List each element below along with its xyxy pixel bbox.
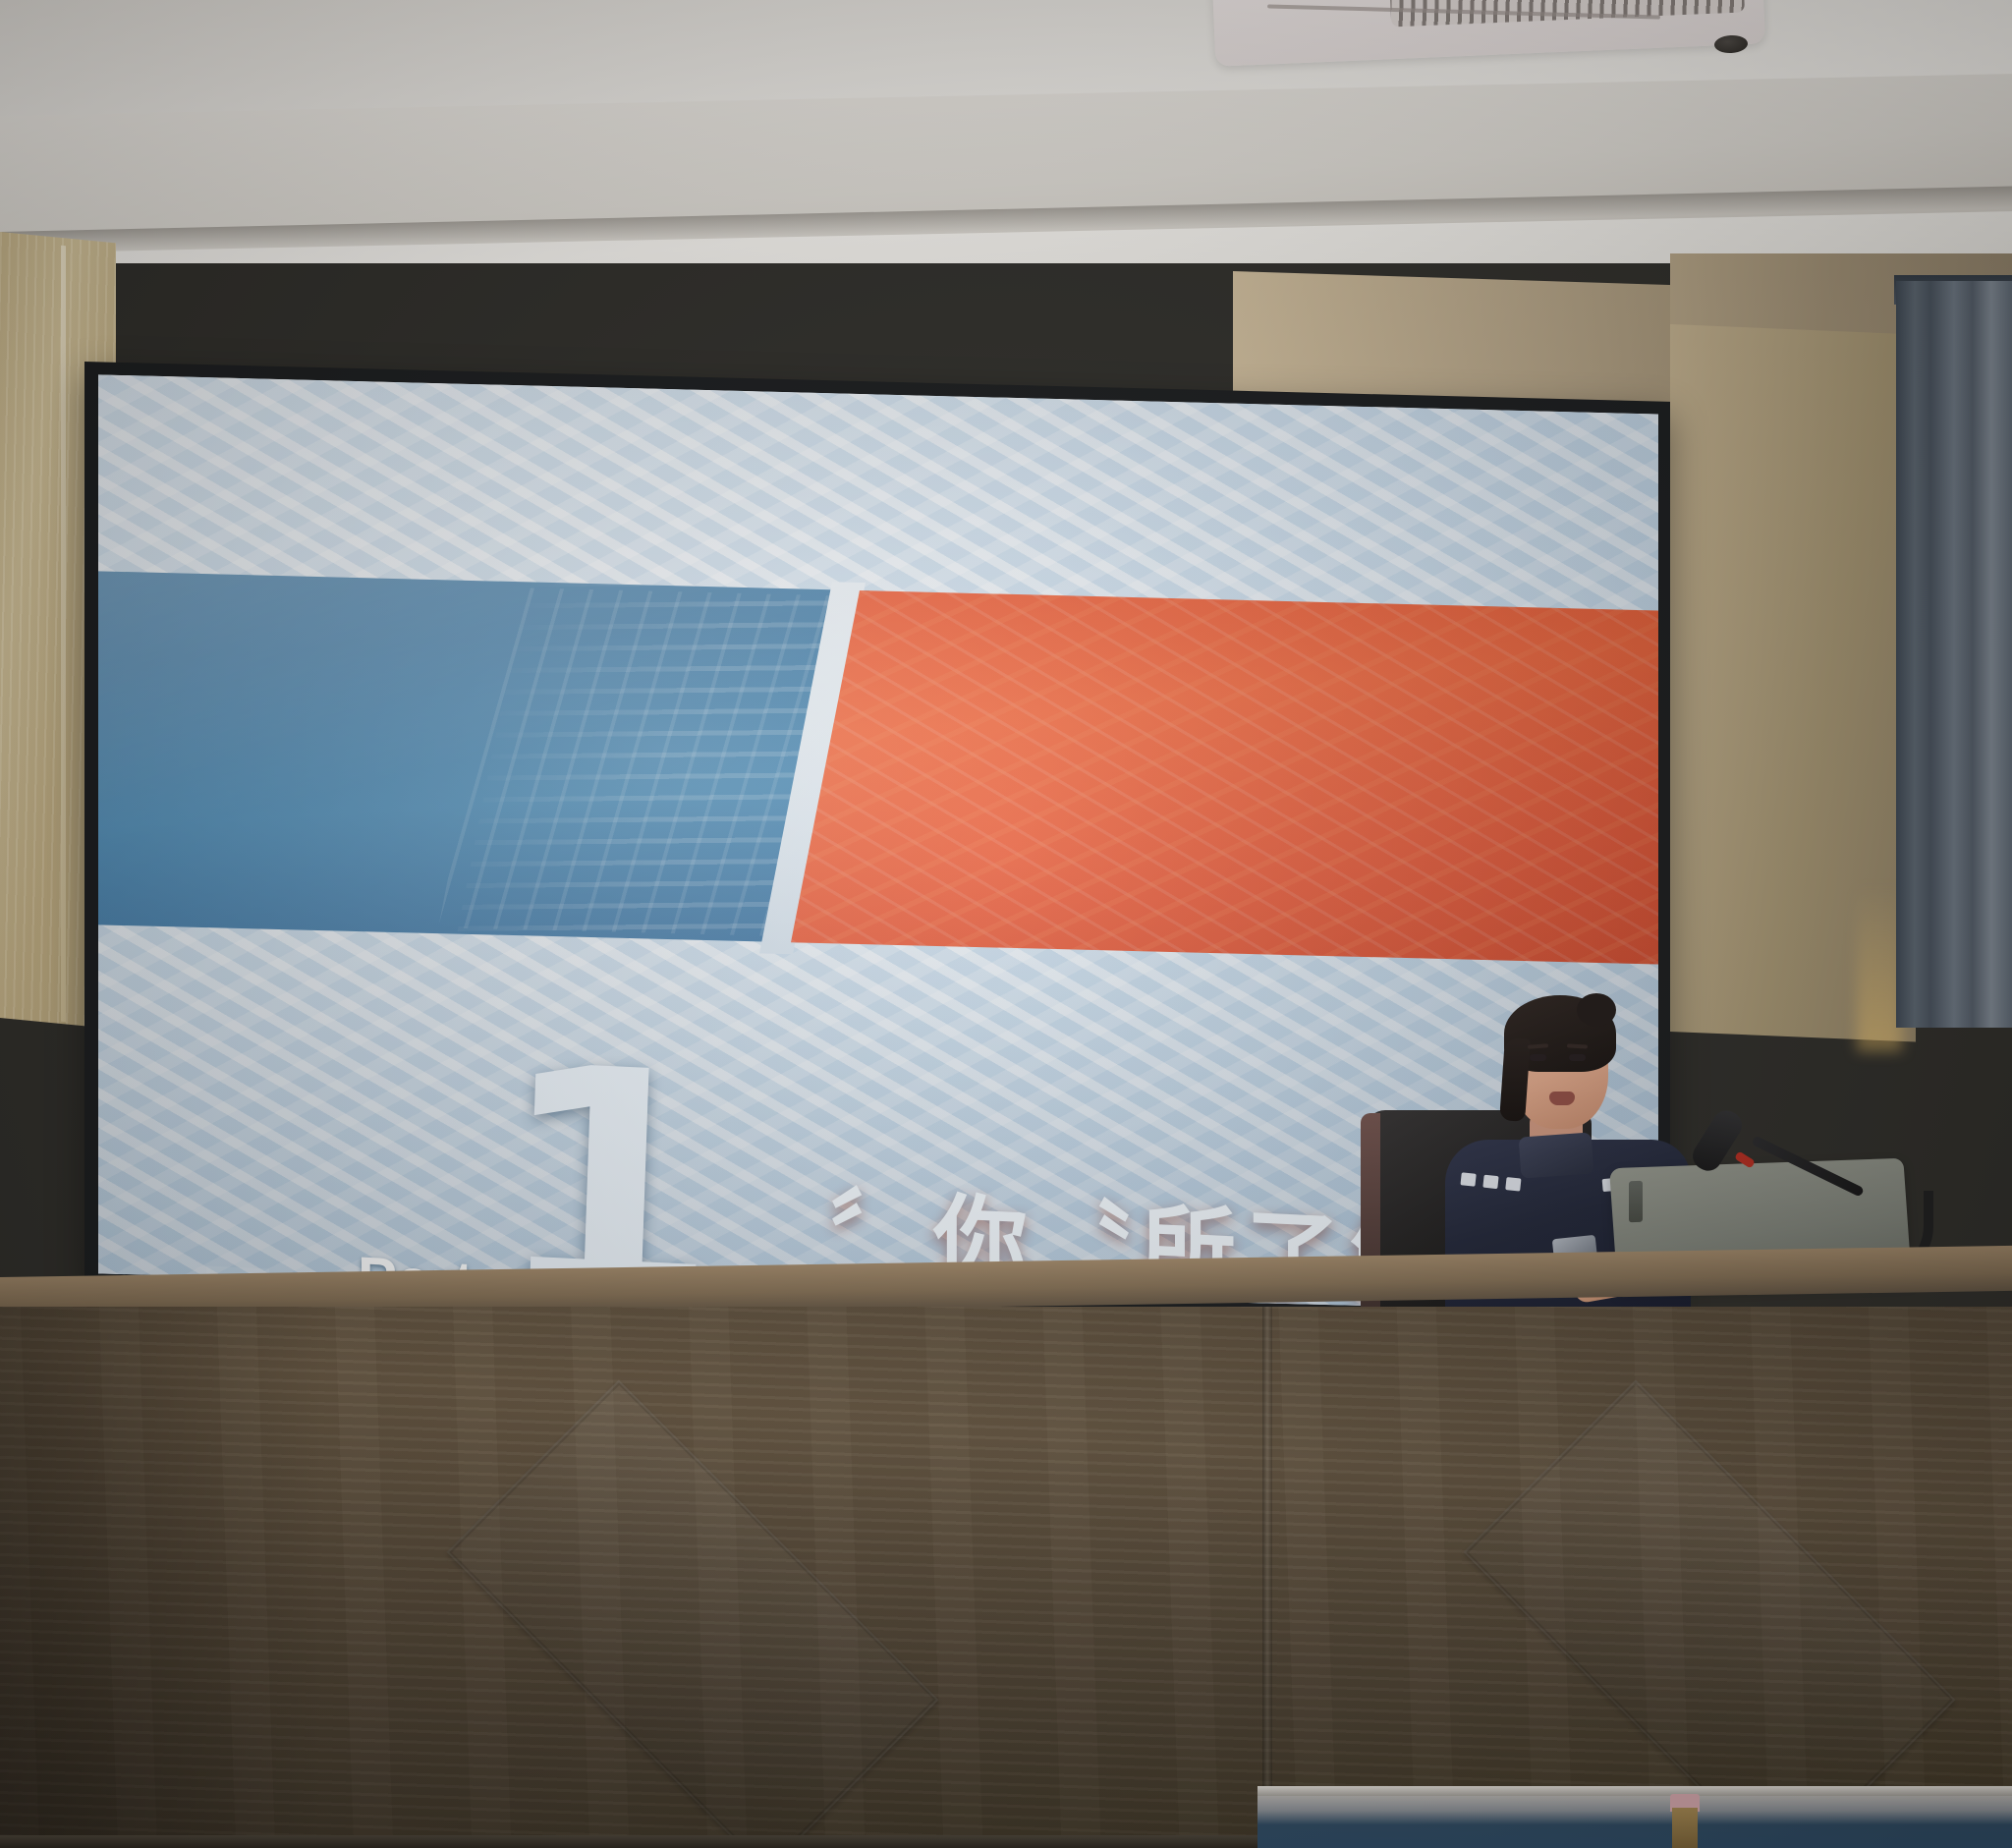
- uniform-collar: [1519, 1132, 1594, 1178]
- curtain: [1896, 281, 2012, 1028]
- photo-scene: Part 1 〞你〝所了解的〞电诈〝 1: [0, 0, 2012, 1848]
- wall-left-seam: [61, 246, 66, 1022]
- rank-pip: [1505, 1177, 1521, 1191]
- hair-bun: [1577, 993, 1616, 1027]
- mouth: [1549, 1092, 1575, 1105]
- foreground-bench-left: [0, 1835, 1257, 1848]
- podium-panel-seam: [1262, 1307, 1272, 1848]
- blue-band-sheen: [98, 571, 869, 942]
- foreground-bench: [1257, 1790, 2012, 1848]
- eye-right: [1569, 1054, 1586, 1061]
- rank-pip: [1482, 1174, 1498, 1188]
- laptop-hinge: [1629, 1181, 1643, 1222]
- foreground-bench-lip: [1257, 1786, 2012, 1796]
- eye-left: [1530, 1054, 1546, 1061]
- orange-band-texture-2: [791, 590, 1658, 968]
- foreground-object-tan: [1672, 1808, 1698, 1848]
- rank-pip: [1461, 1172, 1477, 1186]
- slide-orange-band: [791, 590, 1658, 968]
